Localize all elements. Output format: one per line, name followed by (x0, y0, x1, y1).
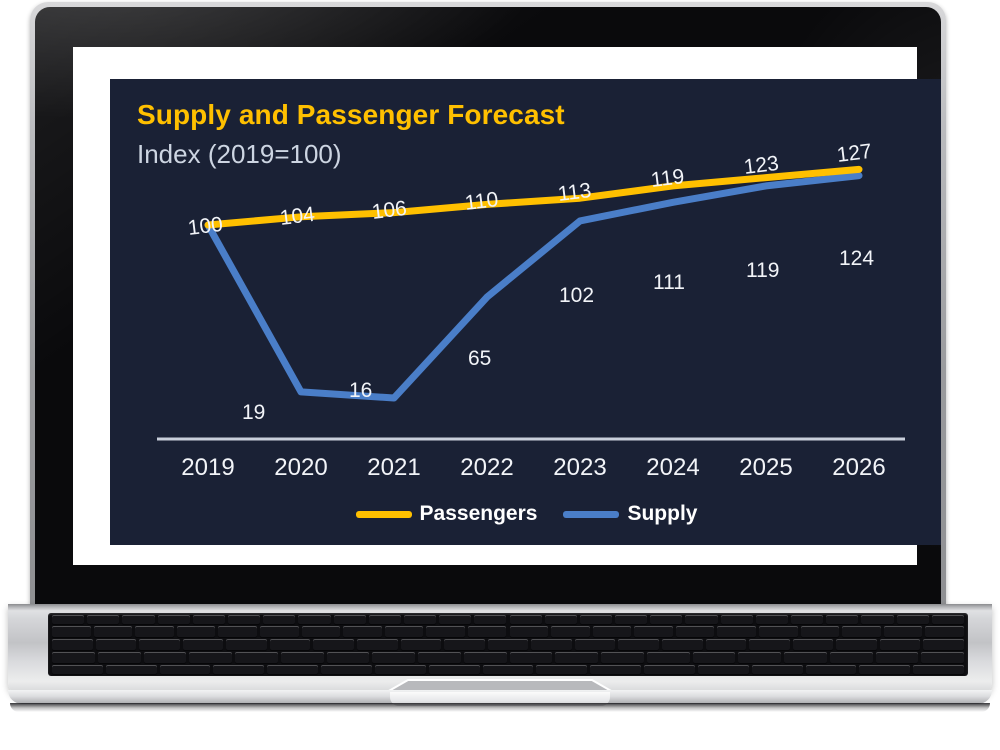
passengers-value-label: 123 (743, 152, 781, 180)
legend-label-passengers: Passengers (420, 502, 538, 526)
x-axis-tick-2024: 2024 (623, 454, 723, 482)
supply-value-label: 16 (349, 379, 372, 403)
chart-legend: Passengers Supply (110, 502, 941, 526)
x-axis-tick-2022: 2022 (437, 454, 537, 482)
passengers-value-label: 113 (557, 179, 593, 207)
laptop-bezel: Supply and Passenger Forecast Index (201… (35, 7, 941, 608)
legend-swatch-passengers (356, 511, 412, 518)
supply-value-label: 111 (653, 271, 685, 295)
supply-value-label: 124 (839, 247, 874, 271)
passengers-value-label: 104 (279, 203, 317, 231)
laptop-base-shadow (10, 703, 990, 712)
laptop-base-body (8, 604, 992, 696)
laptop-lid: Supply and Passenger Forecast Index (201… (30, 2, 946, 614)
passengers-value-label: 100 (187, 213, 225, 241)
chart-panel: Supply and Passenger Forecast Index (201… (110, 79, 941, 545)
passengers-value-label: 110 (464, 188, 500, 216)
legend-label-supply: Supply (627, 502, 697, 526)
x-axis-tick-2021: 2021 (344, 454, 444, 482)
x-axis-tick-2019: 2019 (158, 454, 258, 482)
laptop-hinge (8, 604, 992, 611)
supply-value-label: 19 (242, 401, 265, 425)
x-axis-tick-2025: 2025 (716, 454, 816, 482)
laptop-base (0, 604, 1000, 714)
passengers-value-label: 127 (836, 140, 874, 168)
laptop-trackpad-area (8, 604, 992, 696)
passengers-value-label: 119 (650, 165, 686, 193)
legend-item-supply[interactable]: Supply (563, 502, 697, 526)
x-axis-tick-2020: 2020 (251, 454, 351, 482)
supply-value-label: 102 (559, 284, 594, 308)
legend-item-passengers[interactable]: Passengers (356, 502, 538, 526)
laptop-screen: Supply and Passenger Forecast Index (201… (73, 47, 917, 565)
legend-swatch-supply (563, 511, 619, 518)
supply-value-label: 65 (468, 347, 491, 371)
passengers-value-label: 106 (371, 197, 409, 225)
screenshot-stage: Supply and Passenger Forecast Index (201… (0, 0, 1000, 750)
x-axis-tick-2023: 2023 (530, 454, 630, 482)
x-axis-tick-2026: 2026 (809, 454, 909, 482)
supply-value-label: 119 (746, 259, 779, 283)
